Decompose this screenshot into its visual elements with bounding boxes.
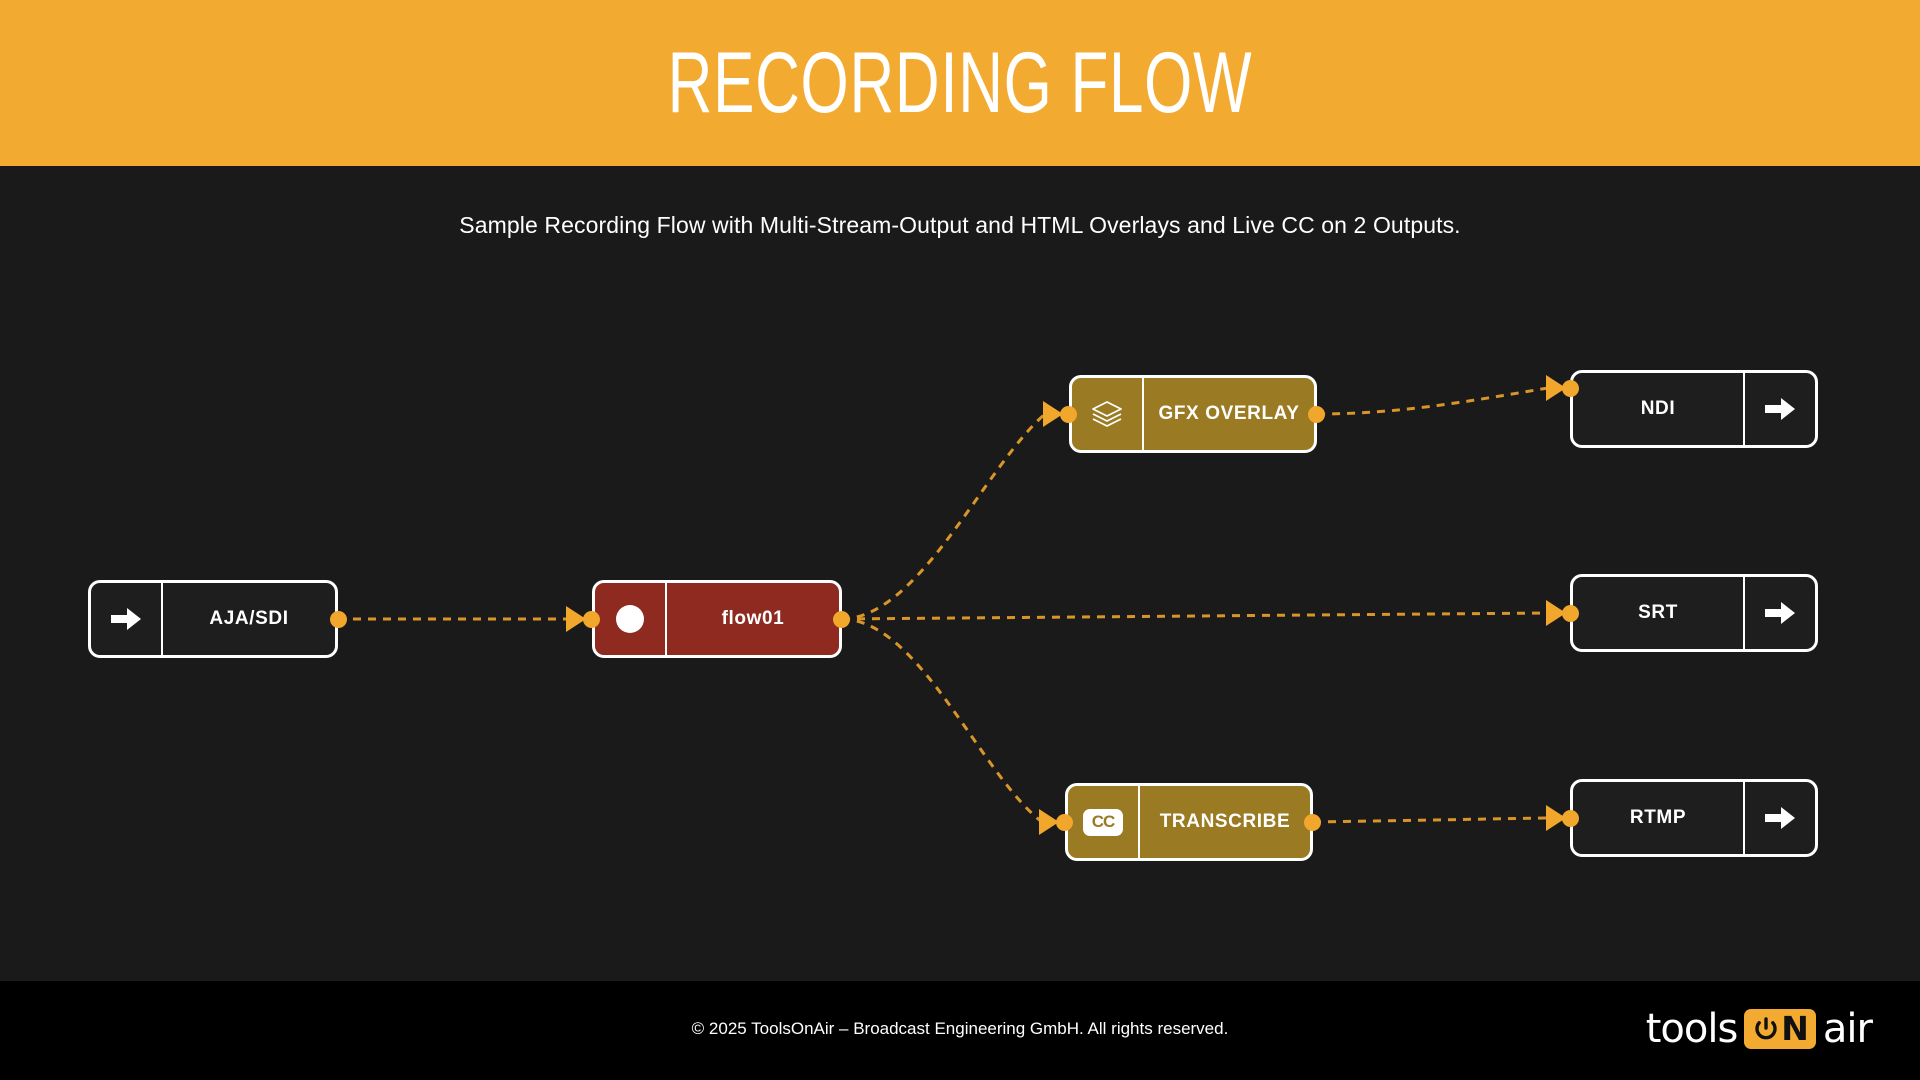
arrow-right-icon <box>109 604 143 634</box>
record-dot-icon <box>616 605 644 633</box>
port-in-rtmp[interactable] <box>1562 810 1579 827</box>
page-header: RECORDING FLOW <box>0 0 1920 166</box>
recording-flow-page: RECORDING FLOW Sample Recording Flow wit… <box>0 0 1920 1080</box>
port-in-gfx[interactable] <box>1060 406 1077 423</box>
page-footer: © 2025 ToolsOnAir – Broadcast Engineerin… <box>0 981 1920 1080</box>
edge-transcribe-to-rtmp <box>1313 818 1548 822</box>
flow-canvas[interactable]: AJA/SDI flow01 GFX OVERLAY <box>0 166 1920 981</box>
port-in-transcribe[interactable] <box>1056 814 1073 831</box>
node-flow01-label: flow01 <box>667 583 839 655</box>
node-aja-sdi[interactable]: AJA/SDI <box>88 580 338 658</box>
logo-badge-letter: N <box>1781 1012 1808 1045</box>
logo-word-tools: tools <box>1646 1009 1738 1049</box>
port-out-flow01[interactable] <box>833 611 850 628</box>
edge-flow01-to-transcribe <box>842 619 1042 822</box>
edge-gfx-to-ndi <box>1317 388 1548 414</box>
node-transcribe-label: TRANSCRIBE <box>1140 786 1310 858</box>
node-gfx-overlay-label: GFX OVERLAY <box>1144 378 1314 450</box>
port-in-srt[interactable] <box>1562 605 1579 622</box>
node-aja-sdi-label: AJA/SDI <box>163 583 335 655</box>
port-in-ndi[interactable] <box>1562 380 1579 397</box>
node-ndi-label: NDI <box>1573 373 1743 445</box>
node-srt-icon-cell <box>1743 577 1815 649</box>
port-out-transcribe[interactable] <box>1304 814 1321 831</box>
node-flow01-icon-cell <box>595 583 667 655</box>
node-rtmp-label: RTMP <box>1573 782 1743 854</box>
logo-word-air: air <box>1823 1009 1872 1049</box>
page-title: RECORDING FLOW <box>668 40 1253 126</box>
arrow-right-icon <box>1763 394 1797 424</box>
node-transcribe[interactable]: CC TRANSCRIBE <box>1065 783 1313 861</box>
node-rtmp[interactable]: RTMP <box>1570 779 1818 857</box>
node-ndi-icon-cell <box>1743 373 1815 445</box>
edge-flow01-to-gfx <box>842 414 1045 619</box>
layers-icon <box>1090 399 1124 429</box>
arrow-right-icon <box>1763 598 1797 628</box>
port-in-flow01[interactable] <box>583 611 600 628</box>
edge-flow01-to-srt <box>842 613 1548 619</box>
node-srt-label: SRT <box>1573 577 1743 649</box>
node-gfx-overlay[interactable]: GFX OVERLAY <box>1069 375 1317 453</box>
node-srt[interactable]: SRT <box>1570 574 1818 652</box>
arrow-right-icon <box>1763 803 1797 833</box>
node-aja-sdi-icon-cell <box>91 583 163 655</box>
node-gfx-overlay-icon-cell <box>1072 378 1144 450</box>
copyright-text: © 2025 ToolsOnAir – Broadcast Engineerin… <box>0 1019 1920 1039</box>
node-flow01[interactable]: flow01 <box>592 580 842 658</box>
node-transcribe-icon-cell: CC <box>1068 786 1140 858</box>
node-ndi[interactable]: NDI <box>1570 370 1818 448</box>
port-out-aja-sdi[interactable] <box>330 611 347 628</box>
port-out-gfx[interactable] <box>1308 406 1325 423</box>
closed-caption-icon: CC <box>1083 809 1123 836</box>
toolsonair-logo[interactable]: tools N air <box>1646 1003 1872 1055</box>
power-icon <box>1752 1015 1780 1043</box>
logo-on-badge: N <box>1744 1009 1816 1049</box>
node-rtmp-icon-cell <box>1743 782 1815 854</box>
